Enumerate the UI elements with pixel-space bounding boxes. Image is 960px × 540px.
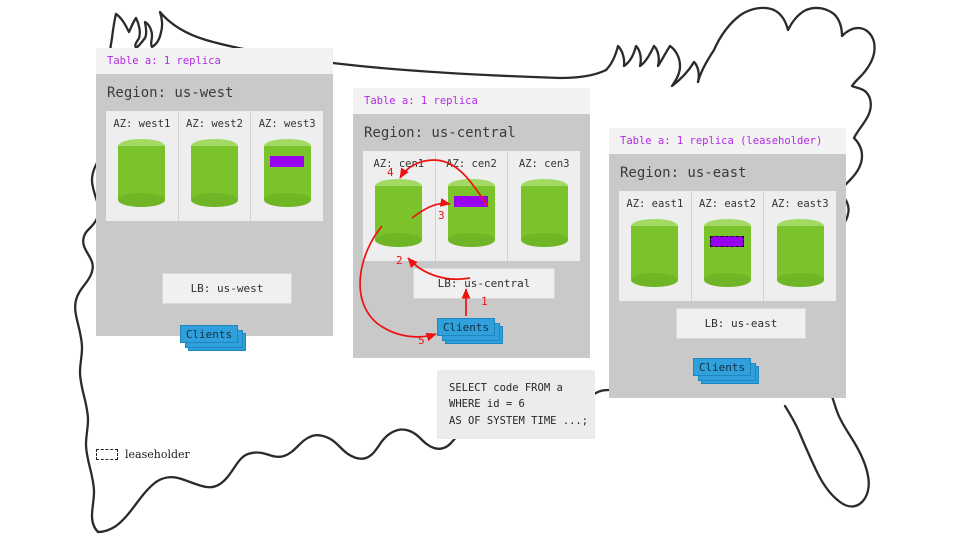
flow-step-3: 3 <box>438 209 445 222</box>
node-cylinder[interactable] <box>521 179 568 247</box>
region-header-label: Table a: 1 replica <box>96 48 333 74</box>
az-cell-west3[interactable]: AZ: west3 <box>250 111 323 221</box>
az-cell-cen3[interactable]: AZ: cen3 <box>507 151 580 261</box>
legend-label: leaseholder <box>125 448 190 461</box>
region-header-label: Table a: 1 replica (leaseholder) <box>609 128 846 154</box>
az-label: AZ: west1 <box>106 118 178 130</box>
flow-step-2: 2 <box>396 254 403 267</box>
cylinder-body <box>264 146 311 200</box>
node-cylinder[interactable] <box>118 139 165 207</box>
clients-us-east[interactable]: Clients <box>693 358 759 384</box>
az-label: AZ: east3 <box>764 198 836 210</box>
legend: leaseholder <box>96 448 190 461</box>
clients-us-central[interactable]: Clients <box>437 318 503 344</box>
region-title: Region: us-west <box>96 74 333 111</box>
cylinder-body <box>375 186 422 240</box>
az-cell-east3[interactable]: AZ: east3 <box>763 191 836 301</box>
cylinder-bottom <box>521 233 568 247</box>
cylinder-bottom <box>375 233 422 247</box>
clients-label[interactable]: Clients <box>437 318 495 336</box>
az-label: AZ: east2 <box>692 198 764 210</box>
clients-label[interactable]: Clients <box>180 325 238 343</box>
cylinder-bottom <box>118 193 165 207</box>
diagram-canvas: Table a: 1 replica Region: us-west AZ: w… <box>0 0 960 540</box>
cylinder-body <box>777 226 824 280</box>
node-cylinder[interactable] <box>777 219 824 287</box>
region-header-label: Table a: 1 replica <box>353 88 590 114</box>
flow-step-1: 1 <box>481 295 488 308</box>
az-row: AZ: cen1 AZ: cen2 <box>363 151 580 261</box>
az-label: AZ: cen1 <box>363 158 435 170</box>
node-cylinder[interactable] <box>704 219 751 287</box>
node-cylinder[interactable] <box>448 179 495 247</box>
replica-marker <box>270 156 304 167</box>
region-title: Region: us-central <box>353 114 590 151</box>
az-cell-west2[interactable]: AZ: west2 <box>178 111 251 221</box>
load-balancer-us-east[interactable]: LB: us-east <box>676 308 806 339</box>
load-balancer-us-west[interactable]: LB: us-west <box>162 273 292 304</box>
cylinder-bottom <box>191 193 238 207</box>
clients-label[interactable]: Clients <box>693 358 751 376</box>
region-title: Region: us-east <box>609 154 846 191</box>
flow-step-5: 5 <box>418 334 425 347</box>
cylinder-bottom <box>777 273 824 287</box>
az-label: AZ: west3 <box>251 118 323 130</box>
az-row: AZ: east1 AZ: east2 <box>619 191 836 301</box>
region-panel-us-east: Table a: 1 replica (leaseholder) Region:… <box>609 128 846 410</box>
az-cell-cen1[interactable]: AZ: cen1 <box>363 151 435 261</box>
node-cylinder[interactable] <box>375 179 422 247</box>
dashed-rect-icon <box>96 449 118 460</box>
node-cylinder[interactable] <box>191 139 238 207</box>
az-label: AZ: cen2 <box>436 158 508 170</box>
az-cell-west1[interactable]: AZ: west1 <box>106 111 178 221</box>
node-cylinder[interactable] <box>631 219 678 287</box>
replica-marker <box>454 196 488 207</box>
region-panel-us-central: Table a: 1 replica Region: us-central AZ… <box>353 88 590 370</box>
clients-us-west[interactable]: Clients <box>180 325 246 351</box>
az-label: AZ: east1 <box>619 198 691 210</box>
cylinder-body <box>448 186 495 240</box>
flow-step-4: 4 <box>387 166 394 179</box>
cylinder-bottom <box>264 193 311 207</box>
az-cell-east2[interactable]: AZ: east2 <box>691 191 764 301</box>
az-cell-cen2[interactable]: AZ: cen2 <box>435 151 508 261</box>
az-cell-east1[interactable]: AZ: east1 <box>619 191 691 301</box>
cylinder-body <box>631 226 678 280</box>
cylinder-bottom <box>631 273 678 287</box>
az-label: AZ: cen3 <box>508 158 580 170</box>
cylinder-bottom <box>704 273 751 287</box>
cylinder-bottom <box>448 233 495 247</box>
sql-query-box: SELECT code FROM a WHERE id = 6 AS OF SY… <box>437 370 595 439</box>
leaseholder-marker <box>710 236 744 247</box>
cylinder-body <box>521 186 568 240</box>
region-panel-us-west: Table a: 1 replica Region: us-west AZ: w… <box>96 48 333 348</box>
cylinder-body <box>118 146 165 200</box>
az-row: AZ: west1 AZ: west2 AZ <box>106 111 323 221</box>
cylinder-body <box>704 226 751 280</box>
cylinder-body <box>191 146 238 200</box>
node-cylinder[interactable] <box>264 139 311 207</box>
az-label: AZ: west2 <box>179 118 251 130</box>
